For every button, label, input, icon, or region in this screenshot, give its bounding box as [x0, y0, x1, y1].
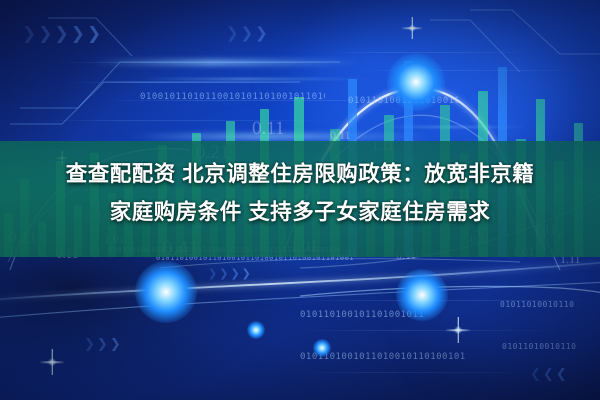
headline-line-1: 查查配配资 北京调整住房限购政策：放宽非京籍: [0, 157, 600, 191]
banner-image: 0.110.211.110.111.011.011.010.411.010.11…: [0, 0, 600, 400]
headline-line-2: 家庭购房条件 支持多子女家庭住房需求: [0, 195, 600, 229]
